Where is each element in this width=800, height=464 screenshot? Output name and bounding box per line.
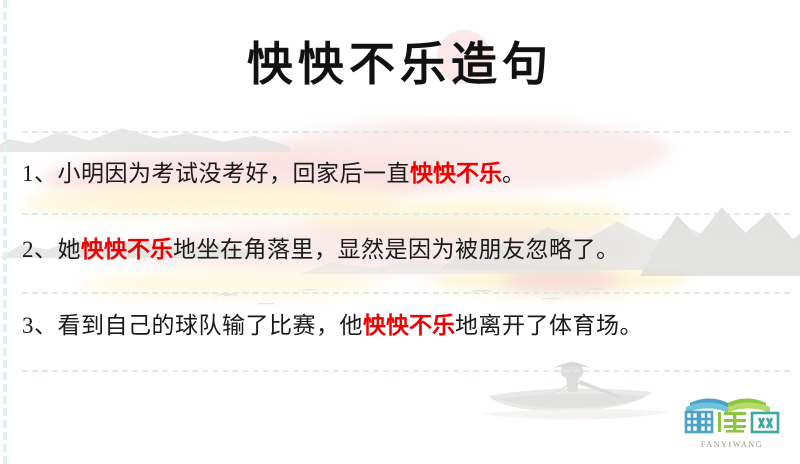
watercolor-wash-yellow [300, 200, 630, 240]
flying-bird-icon [257, 303, 270, 309]
watercolor-wash-yellow [80, 272, 380, 298]
sentence-text-after: 。 [502, 161, 526, 186]
dashed-divider [22, 370, 790, 372]
watercolor-wash-pink [500, 268, 620, 292]
example-sentence-3: 3、看到自己的球队输了比赛，他怏怏不乐地离开了体育场。 [22, 312, 788, 341]
site-watermark-logo[interactable]: FANYIWANG [676, 394, 788, 450]
sentence-number: 1、 [22, 161, 58, 186]
sentence-text-before: 看到自己的球队输了比赛，他 [58, 313, 364, 338]
dashed-divider [22, 213, 790, 215]
sentence-text-after: 地坐在角落里，显然是因为被朋友忽略了。 [173, 237, 620, 262]
example-sentence-2: 2、她怏怏不乐地坐在角落里，显然是因为被朋友忽略了。 [22, 236, 788, 265]
example-sentence-1: 1、小明因为考试没考好，回家后一直怏怏不乐。 [22, 160, 788, 189]
slide-canvas: 怏怏不乐造句 1、小明因为考试没考好，回家后一直怏怏不乐。 2、她怏怏不乐地坐在… [0, 0, 800, 464]
watercolor-wash-yellow [430, 265, 690, 295]
page-title: 怏怏不乐造句 [0, 36, 800, 94]
dashed-divider [22, 131, 790, 133]
sentence-number: 2、 [22, 237, 58, 262]
ink-mountain-silhouette [0, 118, 290, 152]
highlighted-idiom: 怏怏不乐 [81, 237, 173, 263]
highlighted-idiom: 怏怏不乐 [410, 161, 502, 187]
dashed-divider [22, 292, 790, 294]
flying-bird-icon [215, 294, 231, 302]
sentence-number: 3、 [22, 313, 58, 338]
sentence-text-before: 小明因为考试没考好，回家后一直 [58, 161, 411, 186]
sentence-text-before: 她 [58, 237, 82, 262]
highlighted-idiom: 怏怏不乐 [363, 313, 455, 339]
sentence-text-after: 地离开了体育场。 [455, 313, 643, 338]
logo-subtitle: FANYIWANG [676, 440, 788, 449]
flying-bird-icon [541, 298, 555, 305]
book-logo-icon [676, 394, 788, 444]
fisherman-boat-illustration [470, 352, 690, 430]
